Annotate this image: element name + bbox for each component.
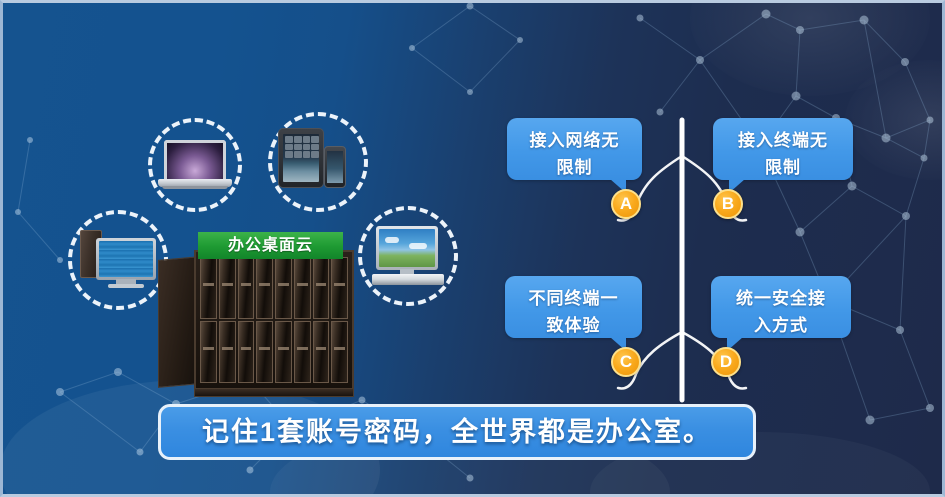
server-bottom-rail [194,388,354,397]
server-blade [238,257,255,319]
server-label: 办公桌面云 [198,232,343,259]
server-blade [294,321,311,383]
server-blade [219,257,236,319]
server-chassis [158,250,354,390]
server-blade [275,321,292,383]
tablet-screen [283,134,319,182]
server-front-panel [194,250,354,390]
tablet-app-icons [285,136,319,158]
callout-c-line1: 不同终端一 [513,285,634,312]
bottom-banner: 记住1套账号密码，全世界都是办公室。 [158,404,756,460]
thin-client-monitor [376,226,438,270]
thin-client-icon [372,226,444,286]
badge-b[interactable]: B [713,189,743,219]
thin-client-base [372,274,444,285]
server-blade [275,257,292,319]
server-blade [331,321,348,383]
tablet-body [278,128,324,188]
server-blade [313,321,330,383]
badge-c[interactable]: C [611,347,641,377]
phone-screen [327,151,343,183]
thin-client-screen [379,229,435,267]
callout-d-line2: 入方式 [719,312,843,339]
server-blade [313,257,330,319]
pc-foot [108,284,144,288]
callout-b-line1: 接入终端无 [721,127,845,154]
slide-canvas: 办公桌面云 [0,0,945,497]
server-blade-grid [200,257,348,383]
server-blade [238,321,255,383]
desktop-pc-icon [80,226,160,290]
server-blade [294,257,311,319]
pc-monitor [96,238,156,280]
callout-c[interactable]: 不同终端一 致体验 [505,276,642,338]
pc-monitor-screen [99,241,153,277]
callout-b-line2: 限制 [721,154,845,181]
server-blade [200,257,217,319]
laptop-icon [158,140,232,190]
server-blade [256,321,273,383]
callout-a-line1: 接入网络无 [515,127,634,154]
callout-b[interactable]: 接入终端无 限制 [713,118,853,180]
callout-d-line1: 统一安全接 [719,285,843,312]
server-blade [219,321,236,383]
phone-icon [324,146,346,188]
callout-c-line2: 致体验 [513,312,634,339]
callout-a-line2: 限制 [515,154,634,181]
server-blade [331,257,348,319]
phone-body [324,146,346,188]
laptop-foot [162,186,228,189]
callout-d[interactable]: 统一安全接 入方式 [711,276,851,338]
badge-d[interactable]: D [711,347,741,377]
tablet-icon [278,128,324,188]
server-group: 办公桌面云 [150,232,365,397]
server-blade [256,257,273,319]
badge-a[interactable]: A [611,189,641,219]
server-blade [200,321,217,383]
callout-a[interactable]: 接入网络无 限制 [507,118,642,180]
laptop-screen [164,140,226,180]
